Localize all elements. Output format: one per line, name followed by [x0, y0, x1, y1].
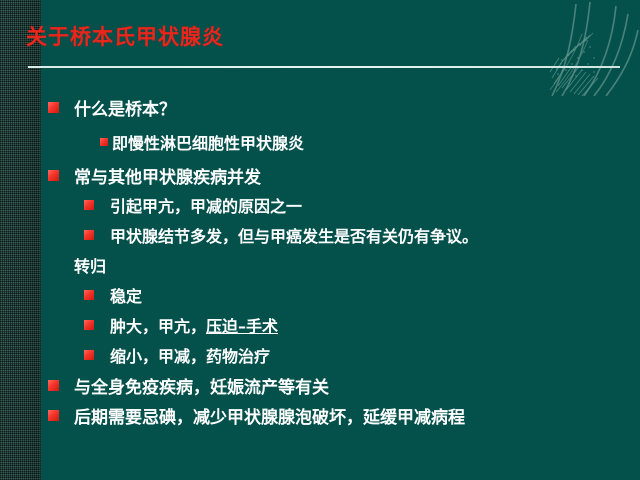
bullet-marker-icon: [84, 320, 94, 330]
bullet-item-0: 什么是桥本？: [48, 95, 176, 120]
bullet-item-5: 转归: [74, 253, 106, 277]
bullet-text: 什么是桥本？: [74, 95, 176, 120]
bullet-item-9: 与全身免疫疾病，妊娠流产等有关: [48, 373, 329, 398]
bullet-item-10: 后期需要忌碘，减少甲状腺腺泡破坏，延缓甲减病程: [48, 403, 465, 428]
bullet-item-3: 引起甲亢，甲减的原因之一: [84, 193, 302, 217]
bullet-text: 转归: [74, 253, 106, 277]
bullet-marker-icon: [84, 290, 94, 300]
bullet-item-7: 肿大，甲亢，压迫–手术: [84, 313, 278, 337]
bullet-text: 常与其他甲状腺疾病并发: [74, 163, 261, 188]
bullet-text: 缩小，甲减，药物治疗: [110, 343, 270, 367]
bullet-marker-icon: [84, 230, 94, 240]
slide-body: 什么是桥本？ 即慢性淋巴细胞性甲状腺炎 常与其他甲状腺疾病并发 引起甲亢，甲减的…: [0, 0, 640, 480]
bullet-marker-icon: [48, 410, 59, 421]
bullet-text-underlined: 压迫–手术: [206, 313, 278, 337]
bullet-marker-icon: [48, 380, 59, 391]
bullet-marker-icon: [84, 200, 94, 210]
bullet-item-2: 常与其他甲状腺疾病并发: [48, 163, 261, 188]
bullet-marker-icon: [48, 102, 59, 113]
bullet-item-1: 即慢性淋巴细胞性甲状腺炎: [100, 130, 304, 154]
bullet-text: 甲状腺结节多发，但与甲癌发生是否有关仍有争议。: [110, 223, 478, 247]
bullet-text: 引起甲亢，甲减的原因之一: [110, 193, 302, 217]
bullet-text: 肿大，甲亢，: [110, 313, 206, 337]
bullet-marker-icon: [100, 138, 108, 146]
bullet-item-6: 稳定: [84, 283, 142, 307]
bullet-item-8: 缩小，甲减，药物治疗: [84, 343, 270, 367]
presentation-slide: 关于桥本氏甲状腺炎 什么是桥本？ 即慢性淋巴细胞性甲状腺炎 常与其他甲状腺疾病并…: [0, 0, 640, 480]
bullet-text: 与全身免疫疾病，妊娠流产等有关: [74, 373, 329, 398]
bullet-item-4: 甲状腺结节多发，但与甲癌发生是否有关仍有争议。: [84, 223, 478, 247]
bullet-text: 即慢性淋巴细胞性甲状腺炎: [112, 130, 304, 154]
bullet-marker-icon: [84, 350, 94, 360]
bullet-marker-icon: [48, 170, 59, 181]
bullet-text: 后期需要忌碘，减少甲状腺腺泡破坏，延缓甲减病程: [74, 403, 465, 428]
bullet-text: 稳定: [110, 283, 142, 307]
